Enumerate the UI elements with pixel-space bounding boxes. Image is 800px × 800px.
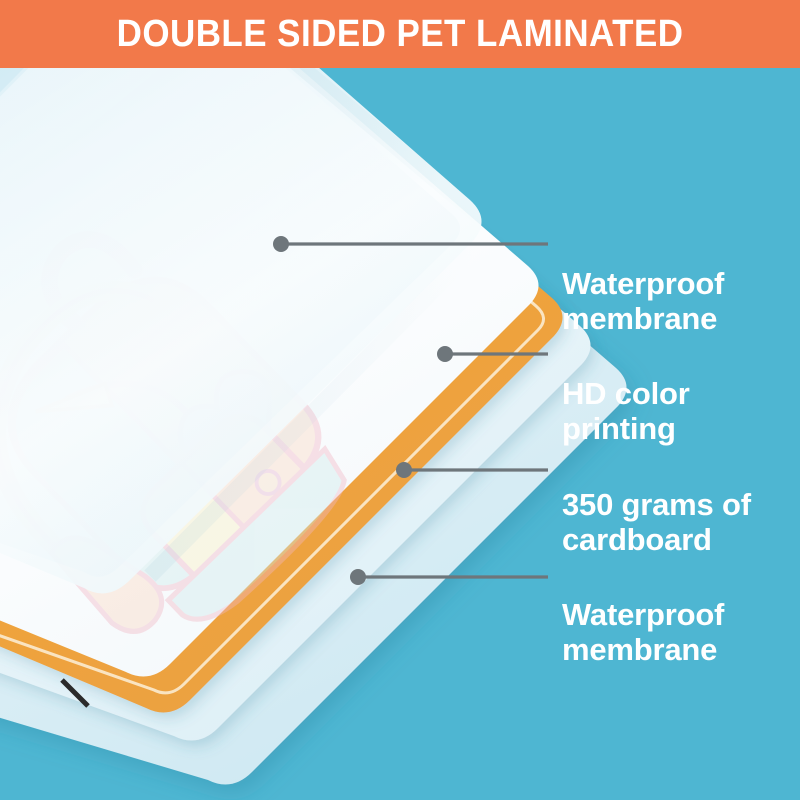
- product-feature-graphic: DOUBLE SIDED PET LAMINATED: [0, 0, 800, 800]
- callout-label-waterproof-membrane-top: Waterproof membrane: [562, 267, 724, 336]
- callout-label-350-grams-cardboard: 350 grams of cardboard: [562, 488, 751, 557]
- illustration-stage: Waterproof membrane HD color printing 35…: [0, 68, 800, 800]
- header-band: DOUBLE SIDED PET LAMINATED: [0, 0, 800, 68]
- page-title: DOUBLE SIDED PET LAMINATED: [117, 15, 684, 53]
- callout-label-waterproof-membrane-bottom: Waterproof membrane: [562, 598, 724, 667]
- callout-label-hd-color-printing: HD color printing: [562, 377, 690, 446]
